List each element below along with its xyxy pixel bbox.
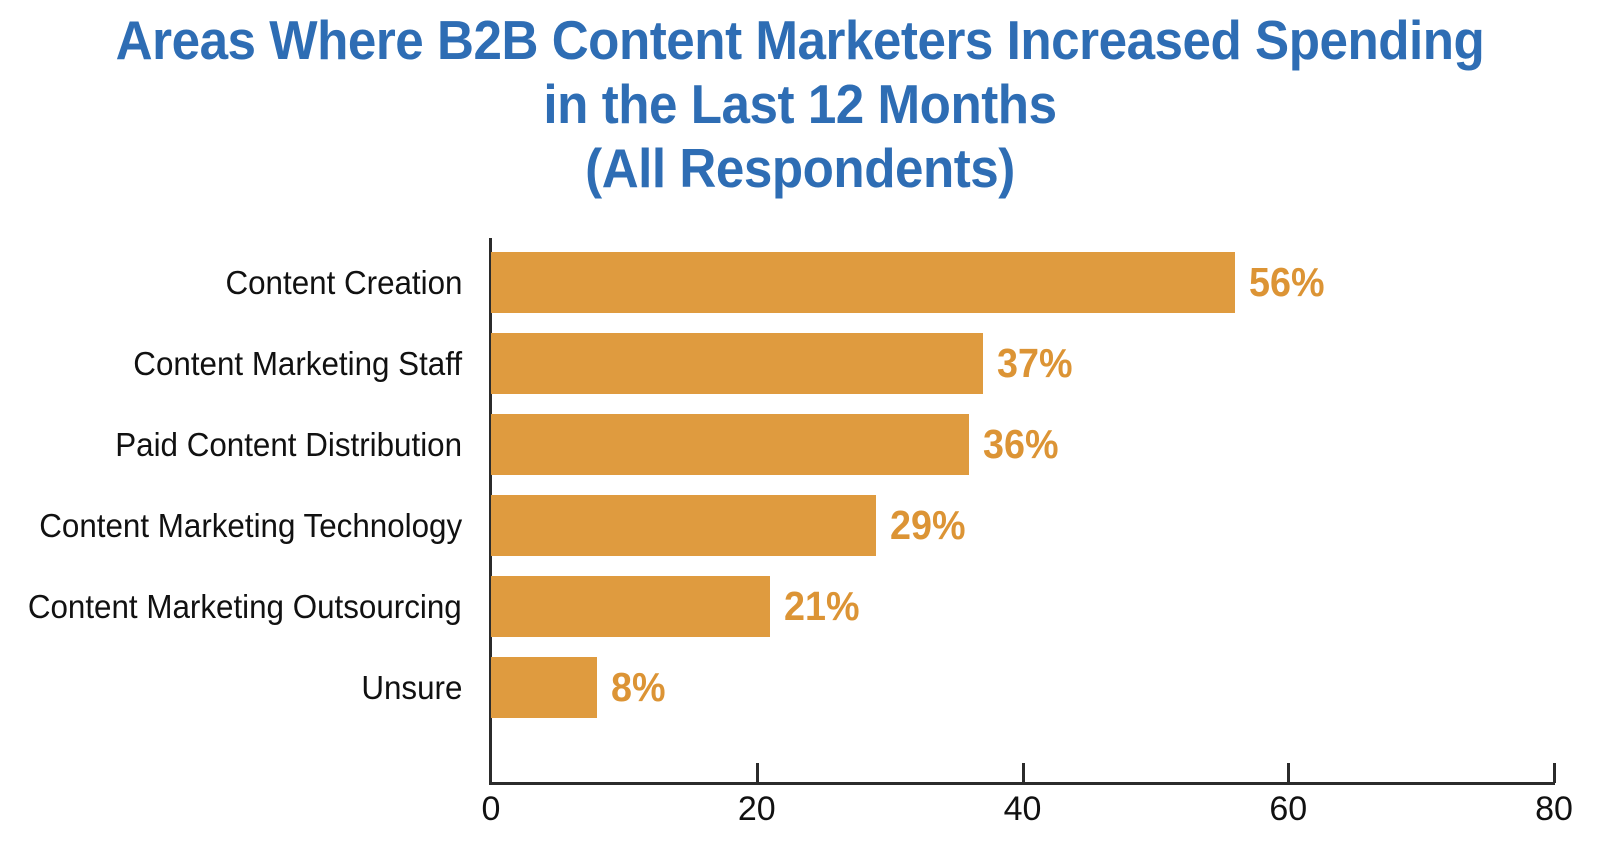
bar[interactable] [491, 333, 983, 394]
category-label: Content Creation [225, 266, 462, 299]
category-label: Content Marketing Technology [39, 509, 462, 542]
bar-value-label: 56% [1249, 262, 1324, 303]
bar[interactable] [491, 252, 1235, 313]
x-axis-tick-label: 20 [697, 790, 817, 829]
category-label: Content Marketing Staff [133, 347, 462, 380]
bar[interactable] [491, 576, 770, 637]
plot-area: 020406080Content Creation56%Content Mark… [0, 0, 1600, 848]
x-axis-tick-label: 60 [1228, 790, 1348, 829]
x-axis-tick-40 [1022, 763, 1025, 783]
category-label: Content Marketing Outsourcing [28, 590, 462, 623]
bar-value-label: 37% [997, 343, 1072, 384]
bar-value-label: 36% [983, 424, 1058, 465]
x-axis-tick-60 [1287, 763, 1290, 783]
bar-value-label: 8% [611, 667, 666, 708]
bar-value-label: 29% [890, 505, 965, 546]
category-label: Paid Content Distribution [115, 428, 462, 461]
bar[interactable] [491, 495, 876, 556]
x-axis-tick-label: 40 [963, 790, 1083, 829]
bar-value-label: 21% [784, 586, 859, 627]
category-label: Unsure [361, 671, 462, 704]
bar[interactable] [491, 657, 597, 718]
x-axis-tick-20 [756, 763, 759, 783]
chart-root: Areas Where B2B Content Marketers Increa… [0, 0, 1600, 848]
x-axis-tick-80 [1553, 763, 1556, 783]
x-axis-tick-label: 0 [431, 790, 551, 829]
bar[interactable] [491, 414, 969, 475]
x-axis-tick-label: 80 [1494, 790, 1600, 829]
